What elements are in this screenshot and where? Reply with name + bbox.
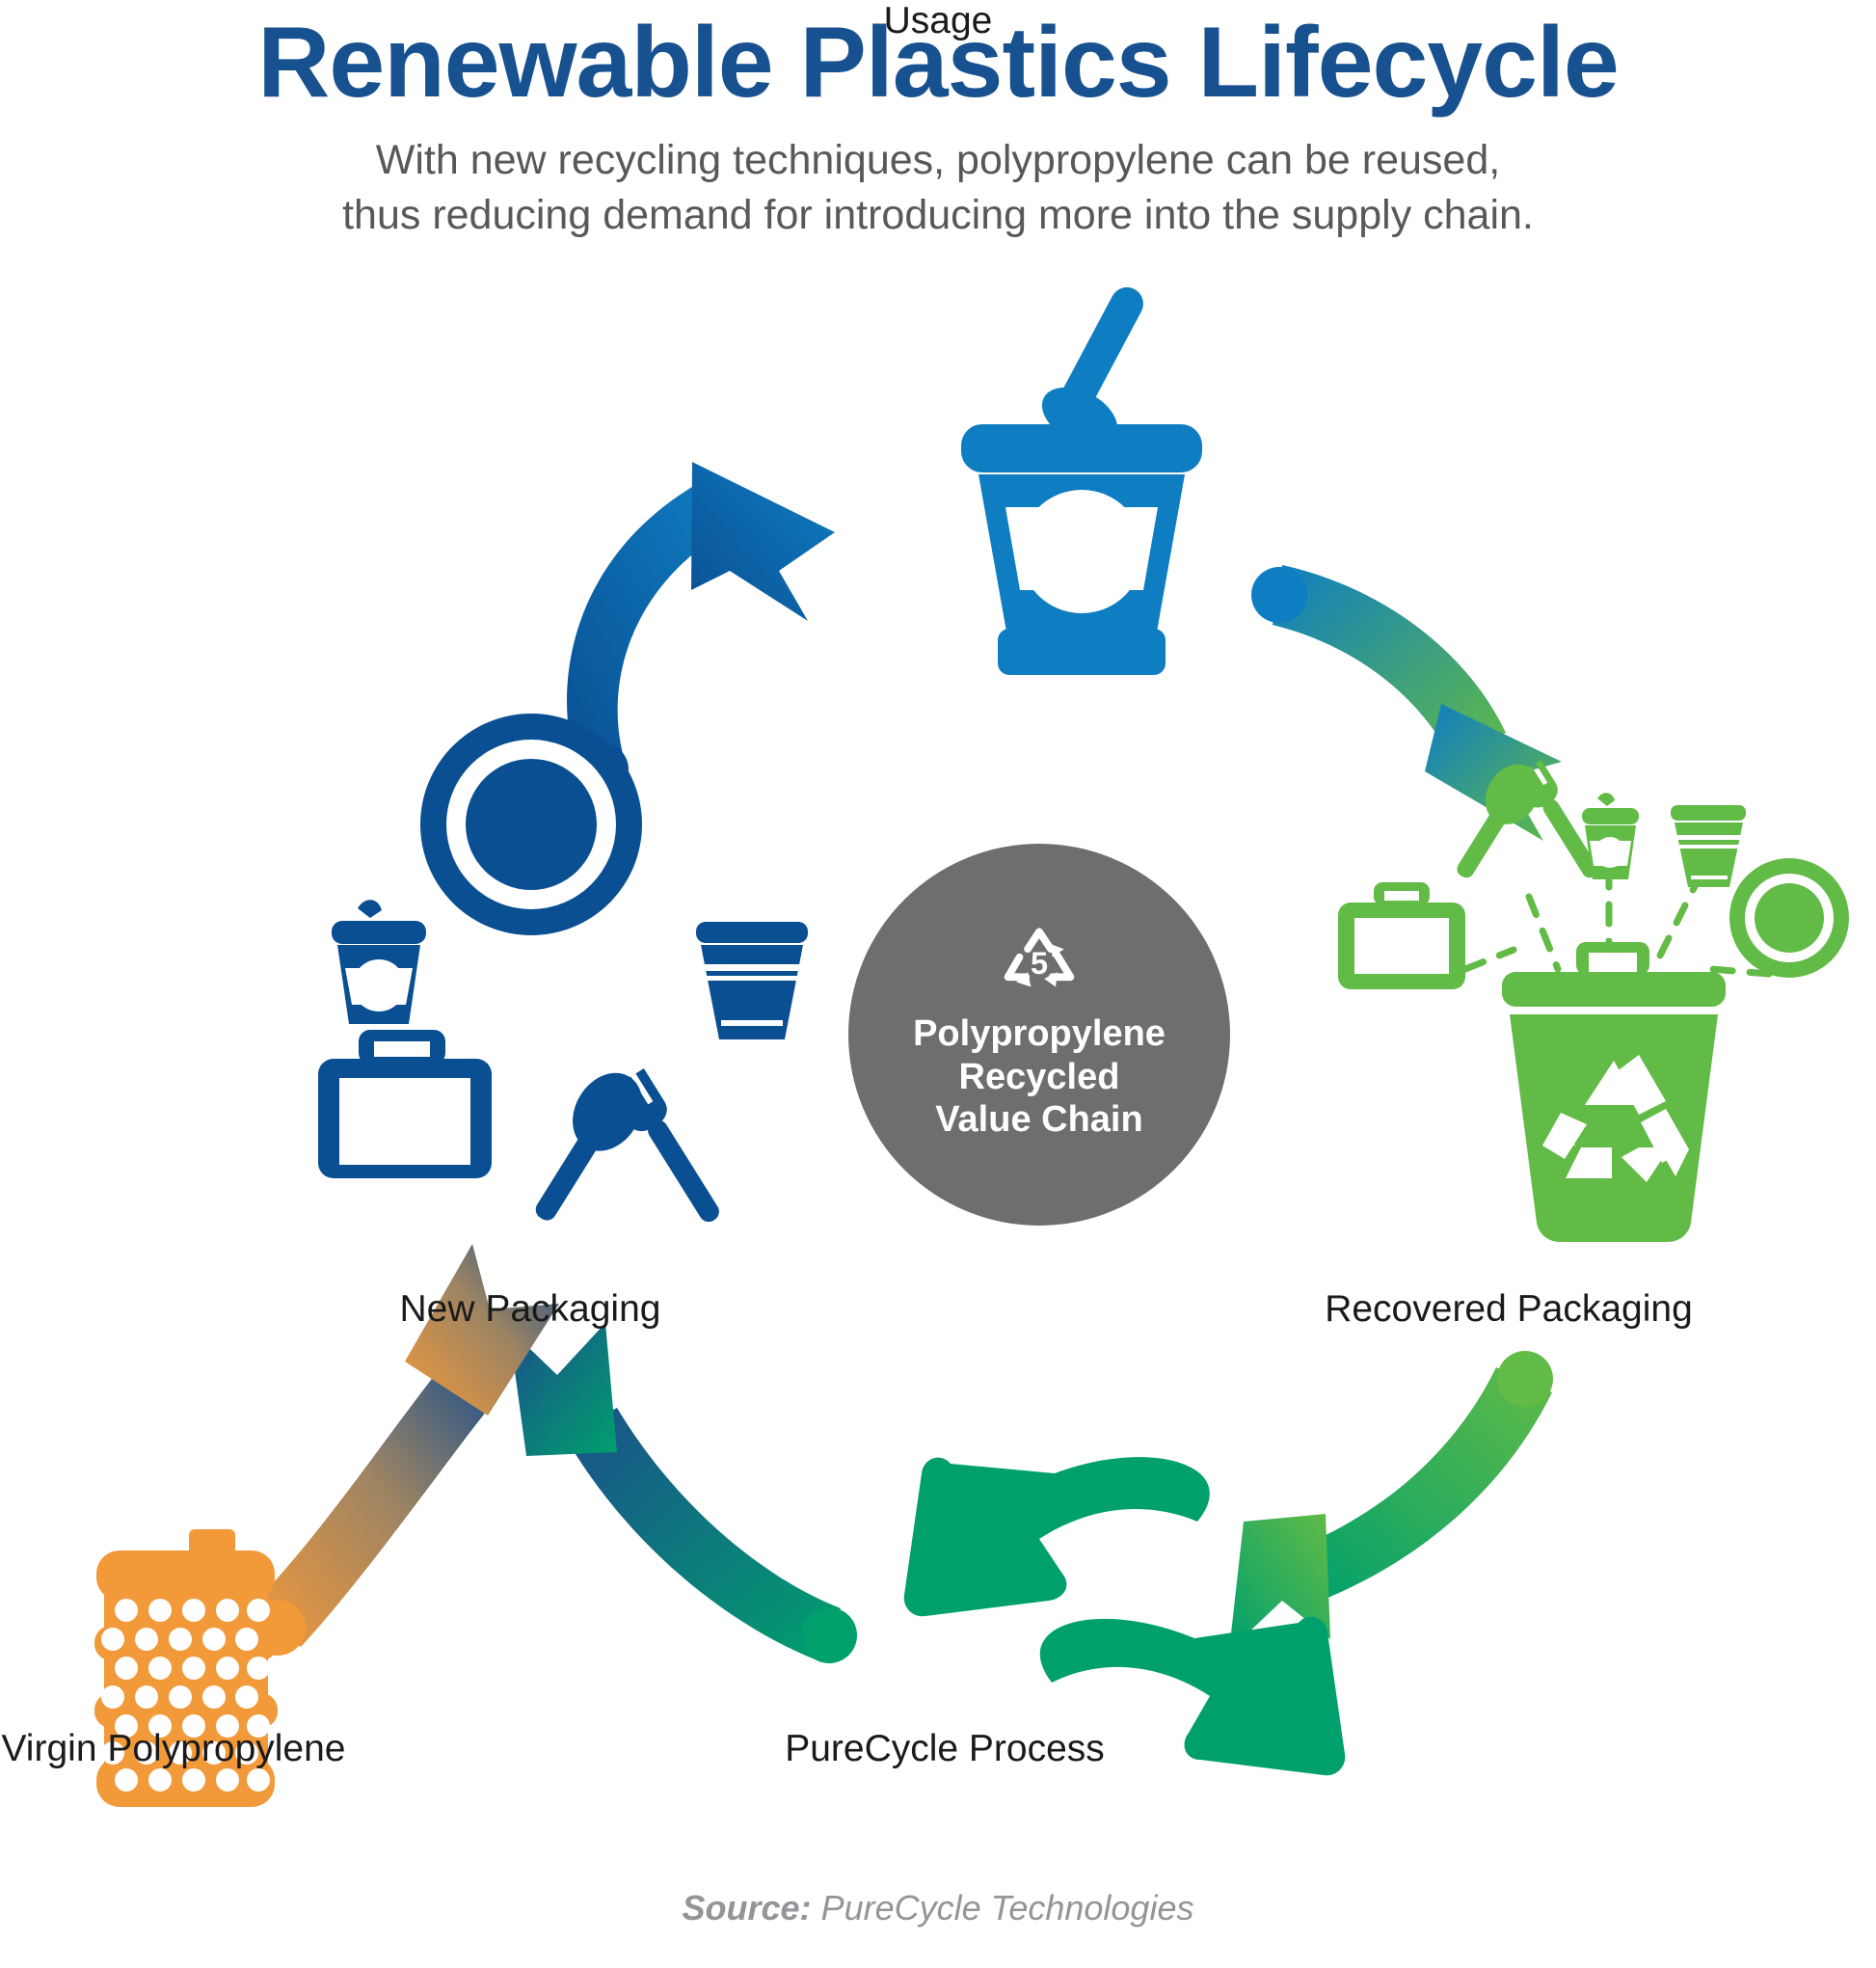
center-line-1: Polypropylene [913,1012,1166,1056]
stage-label-new-packaging: New Packaging [222,1288,839,1331]
usage-icon-group [961,282,1202,675]
recycling-5-icon: 5 [998,928,1081,1007]
stage-label-usage: Usage [0,0,1876,42]
spoon-fork-icon [514,1060,732,1235]
center-line-3: Value Chain [913,1098,1166,1142]
yogurt-cup-icon [332,900,426,1024]
spoon-icon [1032,282,1149,458]
yogurt-cup-with-spoon-icon [961,424,1202,675]
arrow-usage-to-recovered [1251,565,1562,841]
plate-icon [1729,858,1849,978]
source-label: Source: [683,1888,812,1928]
briefcase-icon [318,1030,492,1178]
center-line-2: Recycled [913,1056,1166,1099]
drink-cup-icon [696,922,808,1039]
page-subtitle: With new recycling techniques, polypropy… [215,133,1661,243]
center-value-chain-badge: 5 Polypropylene Recycled Value Chain [848,844,1230,1226]
subtitle-line-2: thus reducing demand for introducing mor… [215,188,1661,243]
stage-label-recovered-packaging: Recovered Packaging [1152,1288,1865,1331]
resin-code-number: 5 [1031,946,1048,981]
source-value: PureCycle Technologies [812,1888,1194,1928]
recycling-bin-icon [1502,942,1726,1242]
arrow-recovered-to-process [1229,1351,1553,1651]
recycle-mark-icon [1542,1055,1689,1182]
dashed-connectors [1465,868,1769,974]
infographic-canvas: Renewable Plastics Lifecycle With new re… [0,0,1876,1968]
recovered-packaging-icon-group [1338,754,1849,1242]
spoon-fork-icon [1440,754,1608,889]
arrow-process-to-newpackaging [509,1323,857,1663]
drink-cup-icon [1671,805,1746,887]
stage-label-virgin-polypropylene: Virgin Polypropylene [0,1728,357,1770]
briefcase-icon [1338,882,1465,989]
plate-icon [420,714,642,935]
arrow-newpackaging-to-usage [567,462,835,796]
new-packaging-icon-group [318,714,808,1235]
subtitle-line-1: With new recycling techniques, polypropy… [215,133,1661,188]
yogurt-cup-icon [1582,793,1639,879]
source-attribution: Source: PureCycle Technologies [0,1888,1876,1928]
stage-label-purecycle-process: PureCycle Process [675,1728,1215,1770]
